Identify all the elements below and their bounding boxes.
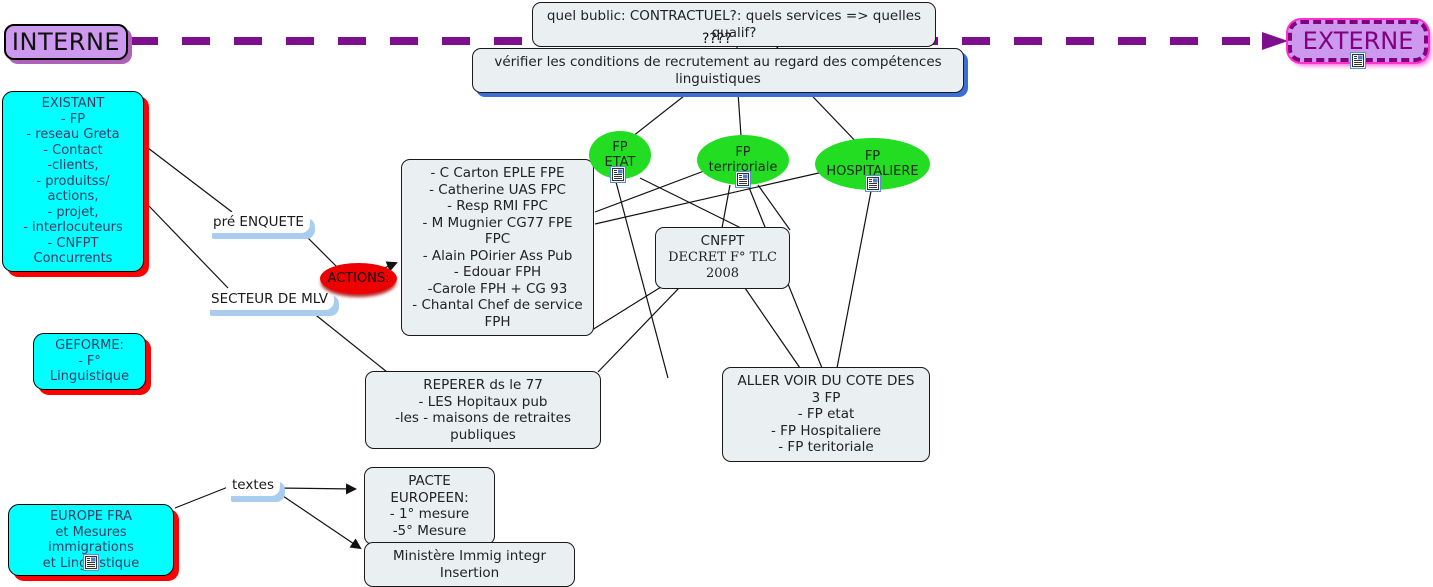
actions-label: ACTIONS:	[327, 272, 389, 286]
geforme-line-0: GEFORME:	[41, 338, 138, 354]
fp-territoriale-line1: FP	[735, 145, 750, 160]
contacts-line-7: - Chantal Chef de service FPH	[411, 297, 584, 330]
document-image-icon[interactable]	[83, 554, 99, 575]
question-public-text: quel bublic: CONTRACTUEL?: quels service…	[547, 8, 921, 41]
existant-line-2: - reseau Greta	[10, 127, 136, 143]
existant-line-8: - CNFPT Concurrents	[10, 236, 136, 267]
document-image-icon[interactable]	[1350, 52, 1366, 73]
aller-voir-line-2: - FP Hospitaliere	[732, 423, 920, 440]
document-image-icon[interactable]	[865, 175, 881, 196]
existant-line-4: -clients,	[10, 158, 136, 174]
document-image-icon[interactable]	[610, 166, 626, 187]
existant-line-7: - interlocuteurs	[10, 220, 136, 236]
question-public-note[interactable]: quel bublic: CONTRACTUEL?: quels service…	[532, 2, 936, 47]
node-geforme[interactable]: GEFORME: - F° Linguistique	[33, 333, 146, 390]
aller-voir-line-3: - FP teritoriale	[732, 439, 920, 456]
banner-interne-label: INTERNE	[12, 28, 120, 56]
aller-voir-line-1: - FP etat	[732, 406, 920, 423]
node-cnfpt-decret[interactable]: CNFPT DECRET F° TLC 2008	[655, 227, 790, 289]
pacte-line-0: PACTE EUROPEEN:	[374, 473, 485, 506]
existant-line-6: - projet,	[10, 205, 136, 221]
contacts-line-4: - Alain POirier Ass Pub	[411, 248, 584, 265]
secteur-mlv-text: SECTEUR DE MLV	[211, 291, 328, 307]
textes-text: textes	[232, 477, 274, 493]
banner-interne[interactable]: INTERNE	[4, 24, 128, 60]
node-existant[interactable]: EXISTANT - FP - reseau Greta - Contact -…	[2, 91, 144, 272]
qmarks-label: ????	[702, 31, 732, 47]
node-pacte-europeen[interactable]: PACTE EUROPEEN: - 1° mesure -5° Mesure	[364, 467, 495, 545]
pacte-line-2: -5° Mesure	[374, 523, 485, 540]
label-secteur-mlv[interactable]: SECTEUR DE MLV	[205, 289, 334, 310]
banner-externe-label: EXTERNE	[1303, 27, 1414, 55]
contacts-line-0: - C Carton EPLE FPE	[411, 165, 584, 182]
document-image-icon[interactable]	[735, 171, 751, 192]
reperer-line-2: -les - maisons de retraites publiques	[375, 410, 591, 443]
existant-line-0: EXISTANT	[10, 96, 136, 112]
contacts-line-2: - Resp RMI FPC	[411, 198, 584, 215]
label-pre-enquete[interactable]: pré ENQUETE	[207, 212, 310, 233]
node-reperer-77[interactable]: REPERER ds le 77 - LES Hopitaux pub -les…	[365, 371, 601, 449]
europe-line-1: et Mesures immigrations	[16, 525, 166, 556]
ellipse-actions[interactable]: ACTIONS:	[320, 263, 397, 294]
ministere-line: Ministère Immig integr Insertion	[374, 548, 565, 581]
existant-line-5: - produitss/ actions,	[10, 174, 136, 205]
pre-enquete-text: pré ENQUETE	[213, 214, 304, 230]
cnfpt-line-2: DECRET F° TLC 2008	[665, 250, 780, 283]
reperer-line-1: - LES Hopitaux pub	[375, 394, 591, 411]
node-aller-voir-3fp[interactable]: ALLER VOIR DU COTE DES 3 FP - FP etat - …	[722, 367, 930, 462]
existant-line-3: - Contact	[10, 143, 136, 159]
fp-hospitaliere-line1: FP	[865, 149, 880, 164]
cnfpt-line-1: CNFPT	[665, 233, 780, 250]
verify-recruitment-note[interactable]: vérifier les conditions de recrutement a…	[472, 48, 964, 93]
contacts-line-3: - M Mugnier CG77 FPE FPC	[411, 215, 584, 248]
node-contacts-list[interactable]: - C Carton EPLE FPE - Catherine UAS FPC …	[401, 159, 594, 336]
contacts-line-6: -Carole FPH + CG 93	[411, 281, 584, 298]
contacts-line-5: - Edouar FPH	[411, 264, 584, 281]
node-ministere-immigration[interactable]: Ministère Immig integr Insertion	[364, 542, 575, 587]
reperer-line-0: REPERER ds le 77	[375, 377, 591, 394]
aller-voir-line-0: ALLER VOIR DU COTE DES 3 FP	[732, 373, 920, 406]
pacte-line-1: - 1° mesure	[374, 506, 485, 523]
geforme-line-1: - F° Linguistique	[41, 354, 138, 385]
fp-etat-line1: FP	[612, 140, 627, 155]
contacts-line-1: - Catherine UAS FPC	[411, 182, 584, 199]
label-textes[interactable]: textes	[226, 475, 280, 496]
verify-recruitment-text: vérifier les conditions de recrutement a…	[494, 54, 941, 87]
mindmap-canvas: INTERNE EXTERNE quel bublic: CONTRACTUEL…	[0, 0, 1433, 575]
existant-line-1: - FP	[10, 112, 136, 128]
europe-line-0: EUROPE FRA	[16, 509, 166, 525]
